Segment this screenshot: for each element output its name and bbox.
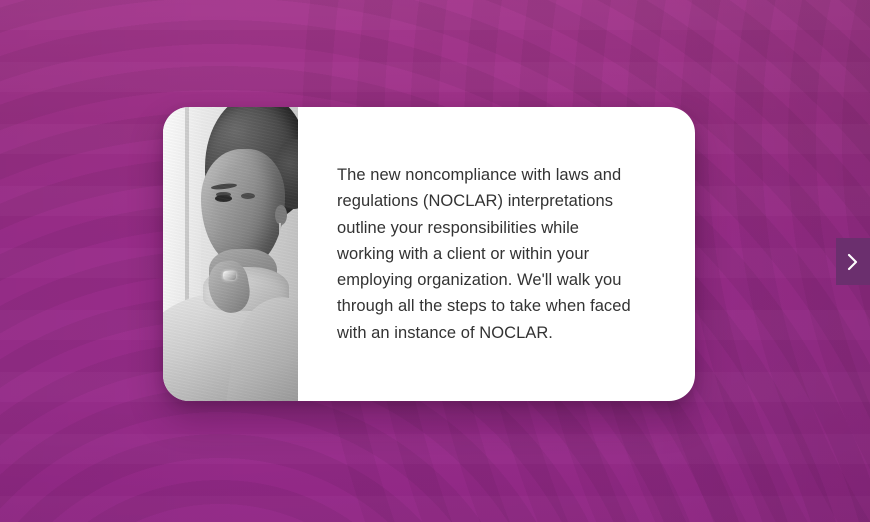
photo-eye-near xyxy=(215,195,232,202)
carousel-next-button[interactable] xyxy=(836,238,870,285)
slide-stage: The new noncompliance with laws and regu… xyxy=(0,0,870,522)
photo-earring xyxy=(279,223,287,245)
portrait-photo xyxy=(163,107,298,401)
card-body-text: The new noncompliance with laws and regu… xyxy=(337,162,637,345)
photo-ear xyxy=(275,205,287,225)
photo-ring-jewelry xyxy=(223,271,236,280)
chevron-right-icon xyxy=(846,252,860,272)
card-content: The new noncompliance with laws and regu… xyxy=(298,107,695,401)
content-card: The new noncompliance with laws and regu… xyxy=(163,107,695,401)
card-image xyxy=(163,107,298,401)
photo-eye-far xyxy=(241,193,255,199)
